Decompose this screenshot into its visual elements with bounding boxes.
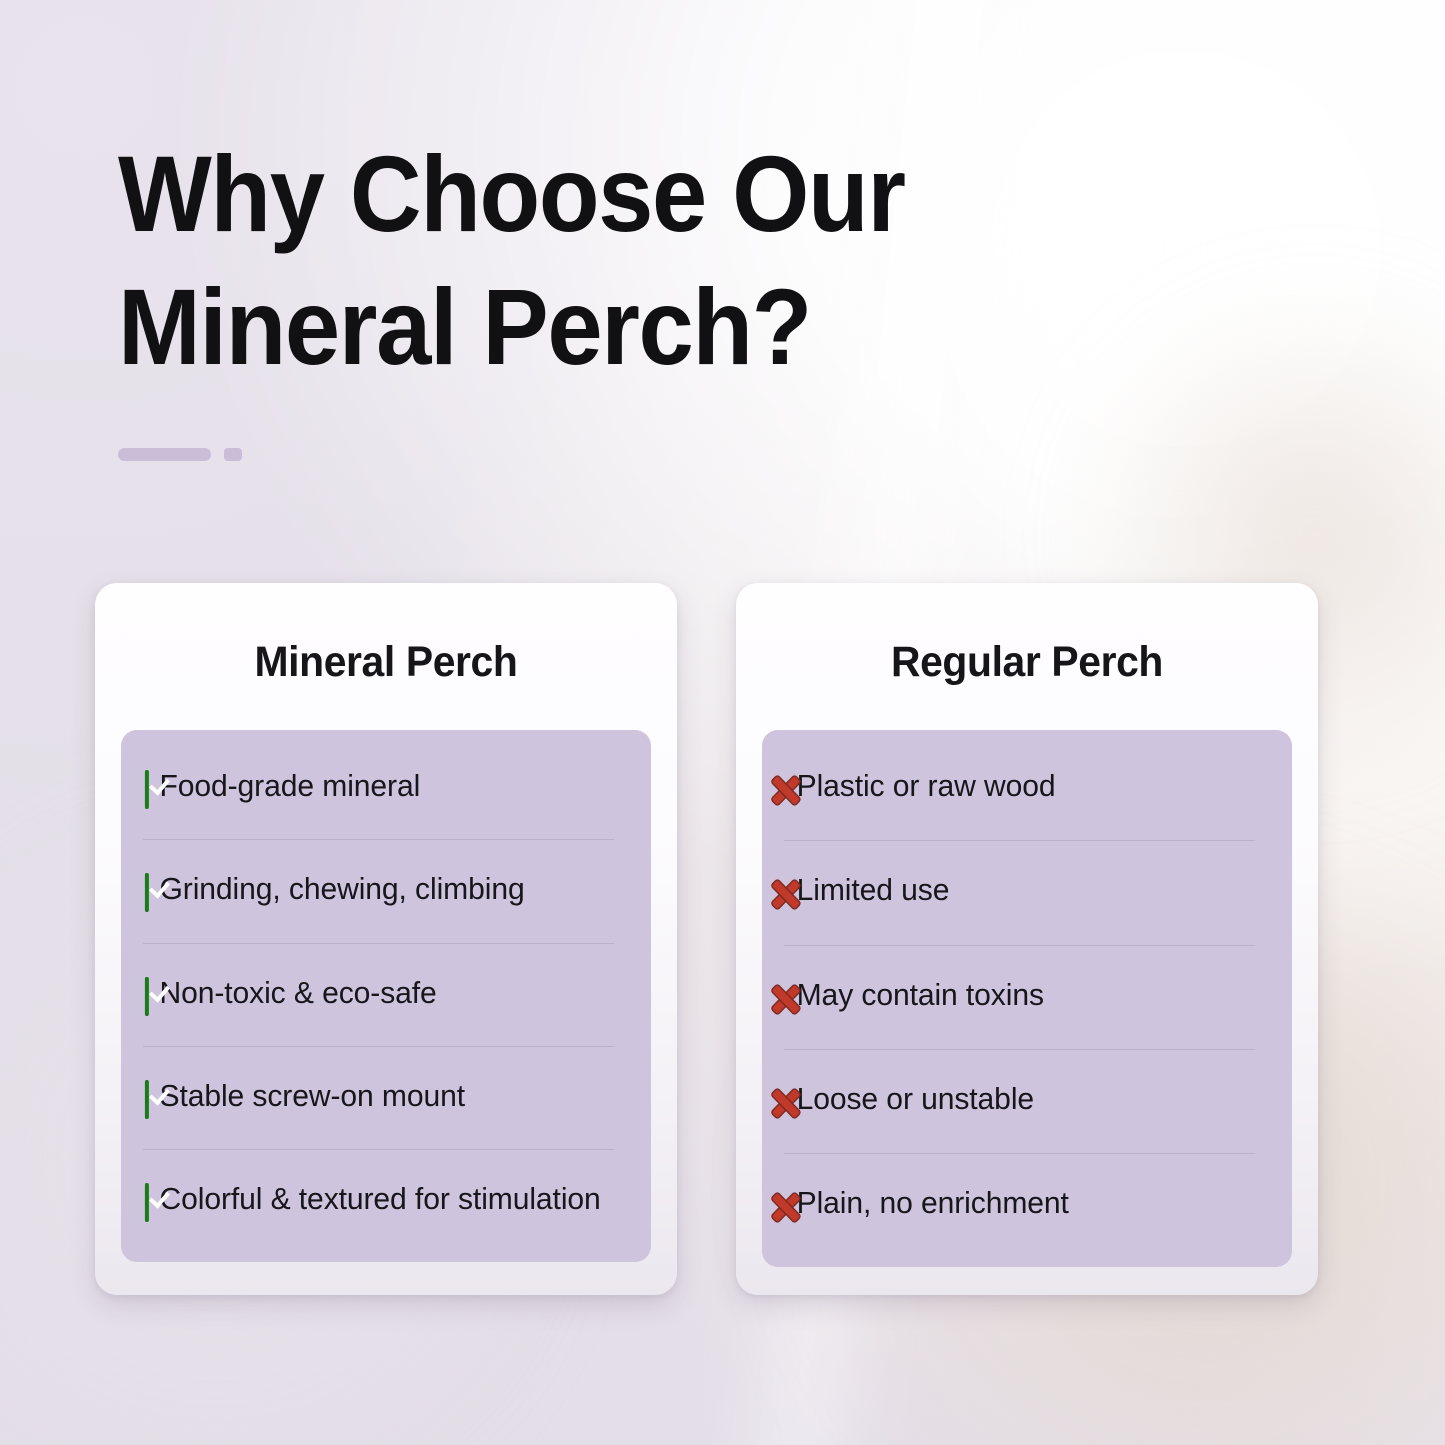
check-icon xyxy=(145,770,149,809)
feature-list-mineral: Food-grade mineral Grinding, chewing, cl… xyxy=(143,736,629,1252)
list-item: Grinding, chewing, climbing xyxy=(143,839,614,942)
check-icon xyxy=(145,1183,149,1222)
comparison-card-regular: Regular Perch Plastic or raw wood Limite… xyxy=(736,583,1318,1295)
list-item: Plastic or raw wood xyxy=(784,736,1255,840)
check-icon xyxy=(145,1080,149,1119)
list-item: Plain, no enrichment xyxy=(784,1153,1255,1257)
feature-list-regular: Plastic or raw wood Limited use May cont… xyxy=(784,736,1270,1257)
list-item-label: Limited use xyxy=(797,872,950,907)
list-item-label: Grinding, chewing, climbing xyxy=(159,871,524,906)
list-item-label: May contain toxins xyxy=(797,977,1044,1012)
comparison-cards: Mineral Perch Food-grade mineral Grindin… xyxy=(95,583,1318,1295)
list-item-label: Food-grade mineral xyxy=(159,768,420,803)
list-item-label: Colorful & textured for stimulation xyxy=(159,1181,600,1216)
card-title-mineral: Mineral Perch xyxy=(110,583,663,730)
list-item: Non-toxic & eco-safe xyxy=(143,943,614,1046)
list-item: Stable screw-on mount xyxy=(143,1046,614,1149)
card-title-regular: Regular Perch xyxy=(751,583,1304,730)
feature-panel-regular: Plastic or raw wood Limited use May cont… xyxy=(762,730,1292,1267)
list-item-label: Stable screw-on mount xyxy=(159,1078,465,1113)
list-item: Loose or unstable xyxy=(784,1049,1255,1153)
check-icon xyxy=(145,977,149,1016)
list-item-label: Plastic or raw wood xyxy=(797,768,1056,803)
list-item: May contain toxins xyxy=(784,945,1255,1049)
page-title: Why Choose Our Mineral Perch? xyxy=(118,128,1020,394)
list-item-label: Plain, no enrichment xyxy=(797,1185,1069,1220)
list-item: Limited use xyxy=(784,840,1255,944)
list-item: Colorful & textured for stimulation xyxy=(143,1149,614,1252)
poster-root: Why Choose Our Mineral Perch? Mineral Pe… xyxy=(0,0,1445,1445)
list-item-label: Loose or unstable xyxy=(797,1081,1034,1116)
check-icon xyxy=(145,873,149,912)
list-item-label: Non-toxic & eco-safe xyxy=(159,975,436,1010)
poster-content: Why Choose Our Mineral Perch? Mineral Pe… xyxy=(0,0,1445,1445)
accent-dot xyxy=(224,448,242,461)
accent-bar xyxy=(118,448,211,461)
comparison-card-mineral: Mineral Perch Food-grade mineral Grindin… xyxy=(95,583,677,1295)
feature-panel-mineral: Food-grade mineral Grinding, chewing, cl… xyxy=(121,730,651,1262)
title-accent xyxy=(118,448,242,461)
list-item: Food-grade mineral xyxy=(143,736,614,839)
